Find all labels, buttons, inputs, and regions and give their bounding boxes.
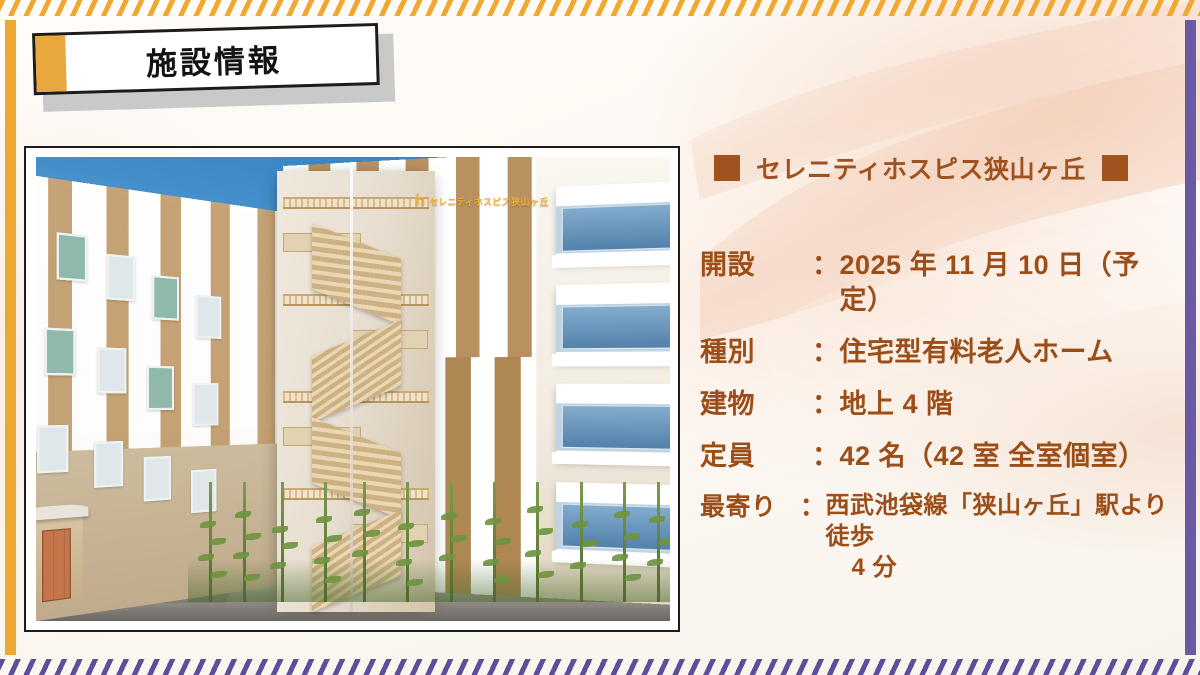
detail-value: 西武池袋線「狭山ヶ丘」駅より徒歩: [826, 492, 1169, 550]
detail-colon: ：: [800, 491, 826, 524]
detail-row-capacity: 定員 ： 42 名（42 室 全室個室）: [700, 439, 1180, 474]
detail-colon: ：: [812, 248, 840, 283]
detail-row-nearest-station: 最寄り ： 西武池袋線「狭山ヶ丘」駅より徒歩 4 分: [700, 491, 1180, 583]
detail-value-continued: 4 分: [826, 553, 1180, 584]
detail-value: 42 名（42 室 全室個室）: [840, 439, 1181, 474]
detail-row-opening: 開設 ： 2025 年 11 月 10 日（予定）: [700, 248, 1180, 318]
right-accent-bar: [1185, 20, 1196, 655]
detail-colon: ：: [812, 387, 840, 422]
top-hatch-border: [0, 0, 1200, 16]
detail-value: 2025 年 11 月 10 日（予定）: [840, 248, 1181, 318]
detail-colon: ：: [812, 335, 840, 370]
square-bullet-left-icon: [714, 155, 740, 181]
bottom-hatch-border: [0, 659, 1200, 675]
facade-logo-mark: ｈ: [414, 193, 428, 210]
landscaping-plants: [188, 482, 670, 603]
title-banner-tab: [35, 35, 67, 92]
detail-key: 建物: [700, 387, 812, 422]
building-photo-frame: ｈセレニティホスピス狭山ヶ丘: [24, 146, 680, 632]
detail-row-type: 種別 ： 住宅型有料老人ホーム: [700, 335, 1180, 370]
detail-colon: ：: [812, 439, 840, 474]
facade-logo-text: ｈセレニティホスピス狭山ヶ丘: [414, 189, 550, 211]
page-title: 施設情報: [65, 26, 377, 91]
left-accent-bar: [5, 20, 16, 655]
detail-row-building: 建物 ： 地上 4 階: [700, 387, 1180, 422]
detail-value: 地上 4 階: [840, 387, 1181, 422]
building-exterior-rendering: ｈセレニティホスピス狭山ヶ丘: [36, 157, 670, 621]
facility-detail-list: 開設 ： 2025 年 11 月 10 日（予定） 種別 ： 住宅型有料老人ホー…: [700, 248, 1180, 584]
detail-key: 最寄り: [700, 491, 800, 524]
facility-name-heading: セレニティホスピス狭山ヶ丘: [714, 150, 1180, 186]
facility-name: セレニティホスピス狭山ヶ丘: [756, 150, 1086, 186]
title-banner: 施設情報: [32, 23, 386, 103]
square-bullet-right-icon: [1102, 155, 1128, 181]
detail-key: 種別: [700, 335, 812, 370]
detail-value: 住宅型有料老人ホーム: [840, 335, 1181, 370]
facility-info-panel: セレニティホスピス狭山ヶ丘 開設 ： 2025 年 11 月 10 日（予定） …: [700, 150, 1180, 601]
detail-key: 定員: [700, 439, 812, 474]
slide-root: 施設情報: [0, 0, 1200, 675]
building-entrance: [36, 506, 82, 604]
detail-key: 開設: [700, 248, 812, 283]
